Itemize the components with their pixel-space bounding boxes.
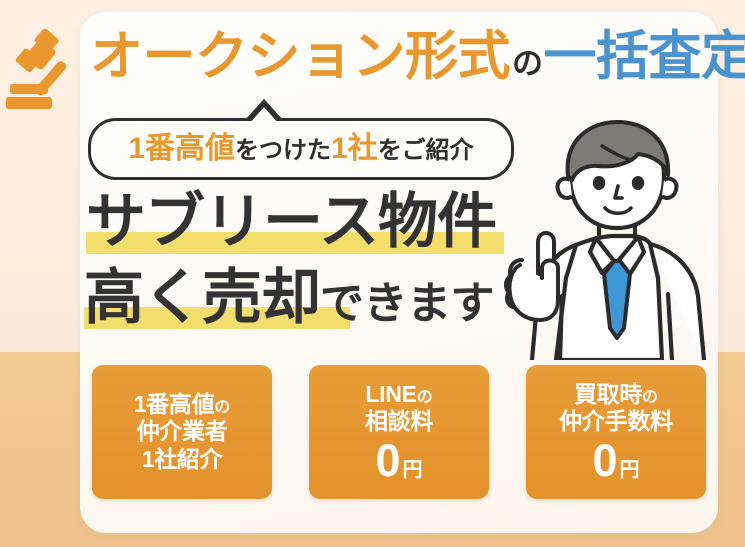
speech-bubble-text: 1番高値 をつけた 1社 をご紹介 [128, 134, 473, 164]
businessman-pointing-up-illustration [498, 118, 745, 360]
feature-box-1-line1-sub: の [214, 399, 230, 418]
feature-box-2-line2-main: 相談料 [365, 408, 433, 435]
feature-box-3-zero: 0 [592, 438, 617, 483]
main-copy-line2-emphasis: 高く売却 [84, 268, 320, 328]
feature-box-2-zero: 0 [375, 438, 400, 483]
feature-box-3-line1-main: 買取時 [574, 381, 642, 408]
promo-banner: オークション形式 の 一括査定 1番高値 をつけた 1社 をご紹介 サブリース物… [0, 0, 745, 547]
bubble-mid-1: をつけた [235, 139, 331, 163]
feature-box-row: 1番高値 の 仲介業者 1社紹介 LINE の 相談料 0 円 [80, 365, 718, 501]
feature-box-3-line2-main: 仲介手数料 [559, 408, 673, 435]
bubble-highlight-2: 1社 [331, 134, 378, 164]
feature-box-3-yen: 円 [620, 459, 640, 483]
main-copy-line-1: サブリース物件 [86, 192, 496, 252]
bubble-highlight-1: 1番高値 [128, 134, 235, 164]
feature-box-2-yen: 円 [403, 459, 423, 483]
headline-particle: の [512, 48, 543, 79]
feature-box-1-line2-main: 仲介業者 [137, 418, 228, 445]
feature-box-3-line1-sub: の [642, 389, 658, 408]
main-copy-line2-suffix: できます [320, 282, 494, 326]
bubble-mid-2: をご紹介 [378, 139, 474, 163]
feature-box-1-line-2: 仲介業者 [137, 418, 228, 445]
feature-box-2-line1-sub: の [417, 389, 433, 408]
main-copy-line1-text: サブリース物件 [86, 192, 496, 252]
feature-box-2-line-2: 相談料 [365, 408, 433, 435]
feature-box-3-line-1: 買取時 の [574, 381, 658, 408]
headline-part1: オークション形式 [90, 30, 510, 83]
feature-box-1-line-1: 1番高値 の [134, 391, 231, 418]
feature-box-brokerage-fee[interactable]: 買取時 の 仲介手数料 0 円 [526, 365, 706, 499]
headline-part2: 一括査定 [544, 30, 745, 83]
banner-headline: オークション形式 の 一括査定 [14, 30, 714, 92]
feature-box-2-price: 0 円 [375, 438, 422, 483]
gavel-icon [6, 26, 92, 110]
feature-box-3-price: 0 円 [592, 438, 639, 483]
feature-box-top-price-agent[interactable]: 1番高値 の 仲介業者 1社紹介 [92, 365, 272, 499]
feature-box-1-line3-main: 1社紹介 [142, 446, 223, 473]
feature-box-2-line-1: LINE の [365, 381, 432, 408]
feature-box-2-line1-main: LINE [365, 381, 416, 408]
feature-box-3-line-2: 仲介手数料 [559, 408, 673, 435]
bubble-tail-fill [249, 107, 279, 124]
feature-box-1-line1-main: 1番高値 [134, 391, 215, 418]
speech-bubble: 1番高値 をつけた 1社 をご紹介 [88, 118, 514, 180]
feature-box-line-consultation-fee[interactable]: LINE の 相談料 0 円 [309, 365, 489, 499]
feature-box-1-line-3: 1社紹介 [142, 446, 223, 473]
main-copy-line-2: 高く売却 できます [84, 268, 494, 328]
